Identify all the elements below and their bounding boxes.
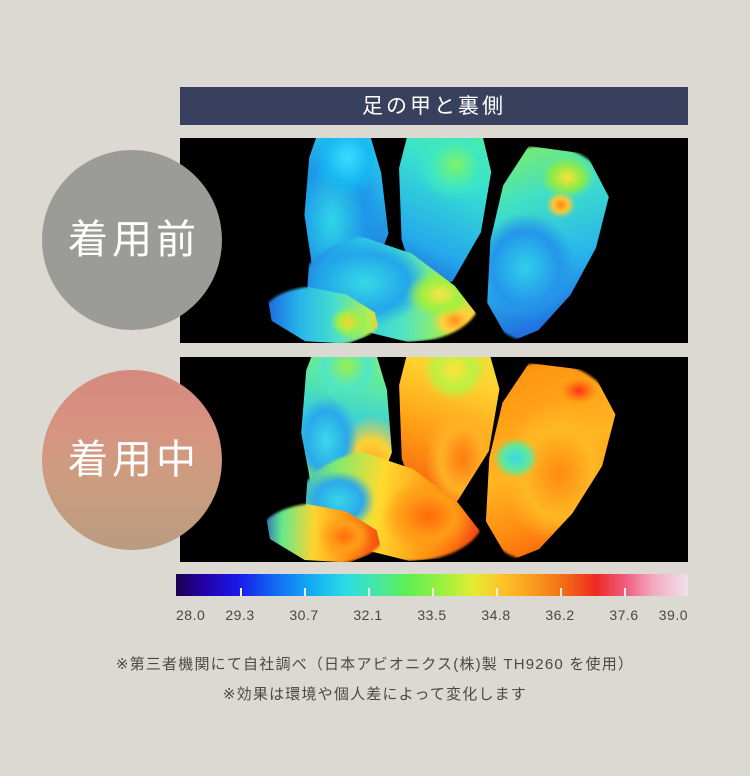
colorbar-tick-label: 29.3 (225, 607, 254, 623)
colorbar-ticks (176, 596, 688, 605)
colorbar-tick-label: 30.7 (289, 607, 318, 623)
thermal-image-before (180, 138, 688, 343)
thermal-stage-during (180, 357, 688, 562)
colorbar-tick (496, 588, 498, 596)
footnotes: ※第三者機関にて自社調べ（日本アビオニクス(株)製 TH9260 を使用） ※効… (0, 650, 750, 710)
colorbar-tick-label: 33.5 (417, 607, 446, 623)
colorbar-tick-label: 37.6 (609, 607, 638, 623)
colorbar-tick-label: 28.0 (176, 607, 205, 623)
thermal-image-during (180, 357, 688, 562)
badge-before-label: 着用前 (64, 220, 200, 260)
badge-before-wearing: 着用前 (42, 150, 222, 330)
section-header-bar: 足の甲と裏側 (180, 87, 688, 125)
colorbar-tick (432, 588, 434, 596)
thermal-foot-right-before (468, 146, 628, 342)
colorbar-tick-label: 39.0 (659, 607, 688, 623)
colorbar-tick-labels: 28.029.330.732.133.534.836.237.639.0 (176, 607, 688, 627)
colorbar-tick-label: 32.1 (353, 607, 382, 623)
colorbar-tick (240, 588, 242, 596)
colorbar-tick (304, 588, 306, 596)
thermal-stage-before (180, 138, 688, 343)
colorbar-tick-label: 36.2 (545, 607, 574, 623)
colorbar-tick (560, 588, 562, 596)
badge-during-wearing: 着用中 (42, 370, 222, 550)
footnote-line-1: ※第三者機関にて自社調べ（日本アビオニクス(株)製 TH9260 を使用） (0, 650, 750, 680)
colorbar-tick-label: 34.8 (481, 607, 510, 623)
page-root: 足の甲と裏側 着用前 着用中 28.029.330.732.133.534.83… (0, 0, 750, 776)
page-title: 足の甲と裏側 (362, 96, 506, 117)
colorbar-tick (368, 588, 370, 596)
temperature-colorbar: 28.029.330.732.133.534.836.237.639.0 (176, 574, 688, 627)
colorbar-tick (624, 588, 626, 596)
footnote-line-2: ※効果は環境や個人差によって変化します (0, 680, 750, 710)
badge-during-label: 着用中 (64, 440, 200, 480)
